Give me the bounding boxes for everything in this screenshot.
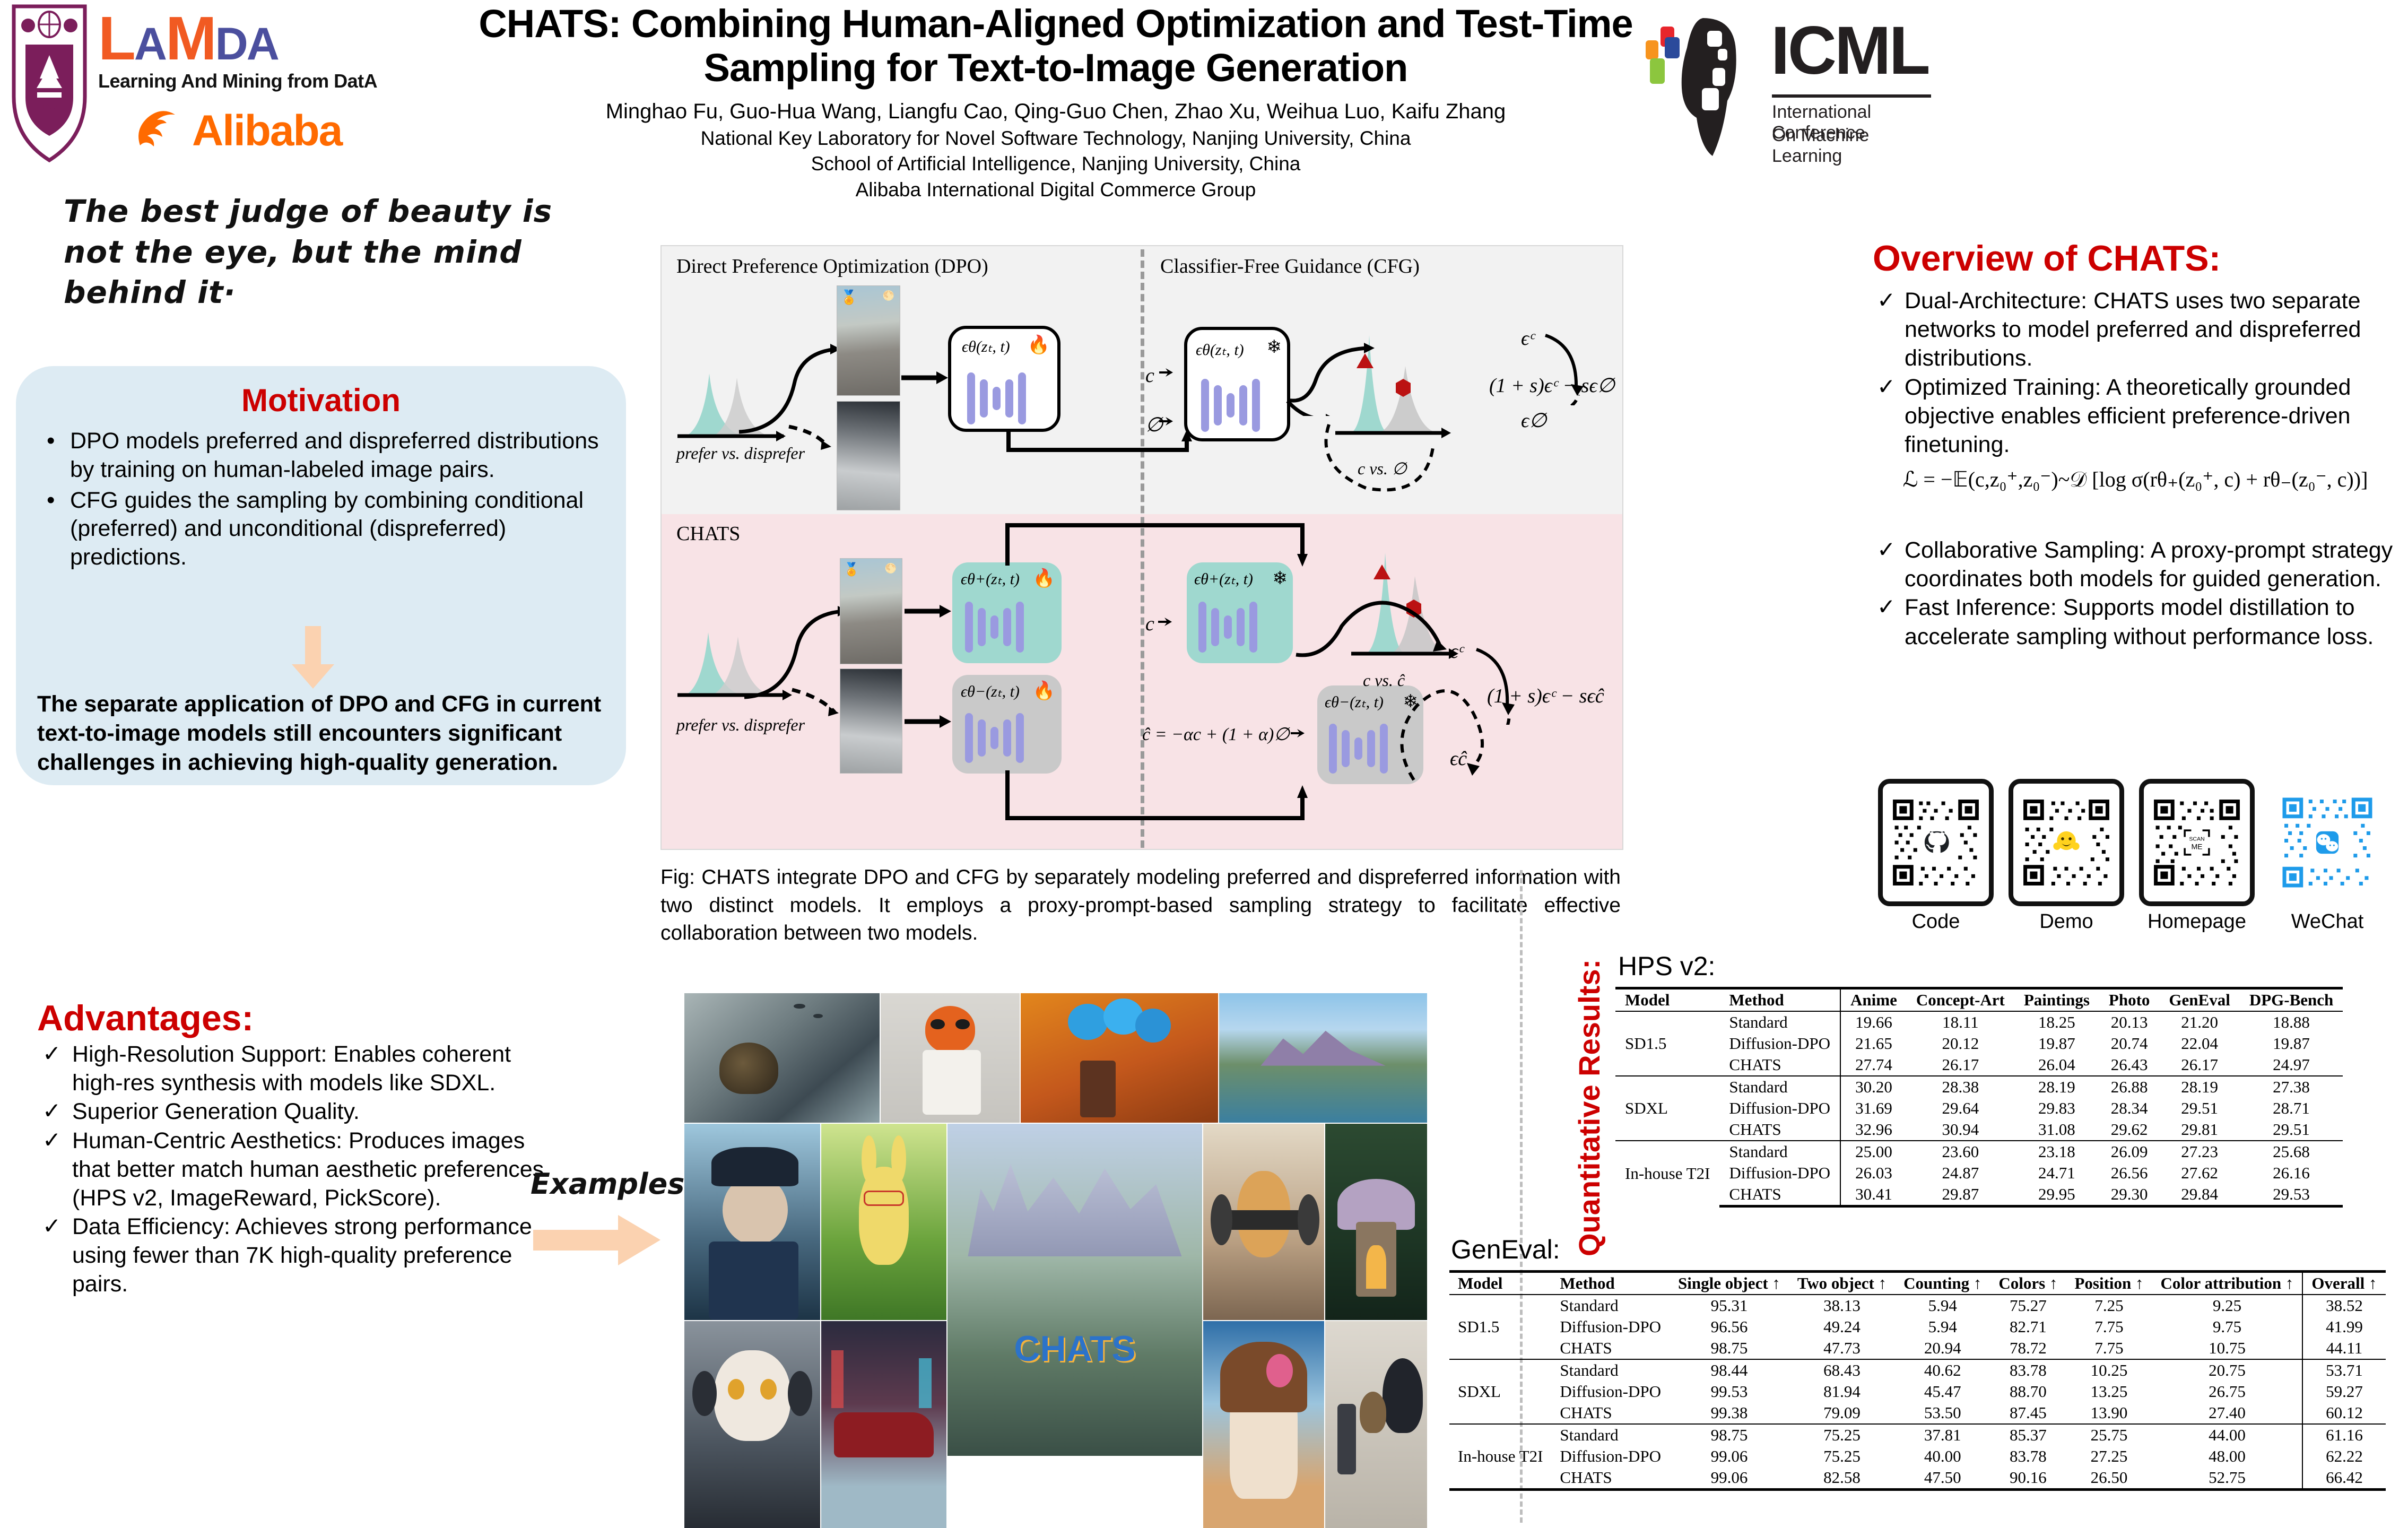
chats-neg-arrow — [905, 713, 953, 730]
value-cell: 20.74 — [2099, 1033, 2160, 1054]
table-row: Standard98.4468.4340.6283.7810.2520.7553… — [1449, 1359, 2386, 1381]
value-cell: 25.75 — [2066, 1424, 2152, 1446]
value-cell: 27.23 — [2159, 1141, 2239, 1162]
method-cell: Standard — [1551, 1359, 1670, 1381]
chats-pos-label: ϵθ+(zₜ, t) — [961, 570, 1020, 588]
value-cell: 26.03 — [1840, 1162, 1907, 1184]
list-item: Optimized Training: A theoretically grou… — [1873, 373, 2398, 459]
table-row: Diffusion-DPO21.6520.1219.8720.7422.0419… — [1615, 1033, 2343, 1054]
svg-text:ME: ME — [2191, 842, 2202, 850]
value-cell: 20.12 — [1907, 1033, 2014, 1054]
lamda-wordmark: LAMDA — [98, 7, 438, 69]
hps-table-body: SD1.5Standard19.6618.1118.2520.1321.2018… — [1615, 1011, 2343, 1206]
method-cell: Diffusion-DPO — [1719, 1098, 1840, 1119]
examples-label: Examples: — [531, 1167, 696, 1201]
method-cell: CHATS — [1551, 1402, 1670, 1424]
table-row: SDXLDiffusion-DPO99.5381.9445.4788.7013.… — [1449, 1381, 2386, 1402]
value-cell: 7.75 — [2066, 1338, 2152, 1359]
example-tile — [1219, 993, 1427, 1123]
chats-frozen-positive-box: ϵθ+(zₜ, t) ❄ — [1187, 562, 1293, 663]
chats-bottom-connector — [1005, 770, 1324, 823]
value-cell: 28.34 — [2099, 1098, 2160, 1119]
value-cell: 26.16 — [2240, 1162, 2343, 1184]
qr-frame-homepage[interactable]: SCAN ME — [2139, 779, 2255, 906]
example-tile — [1203, 1321, 1324, 1528]
value-cell: 88.70 — [1990, 1381, 2066, 1402]
value-cell: 10.25 — [2066, 1359, 2152, 1381]
value-cell: 20.13 — [2099, 1011, 2160, 1033]
value-cell: 28.38 — [1907, 1076, 2014, 1098]
chats-neg-label: ϵθ−(zₜ, t) — [961, 682, 1020, 701]
hps-v2-table: Model Method Anime Concept-Art Paintings… — [1615, 987, 2343, 1208]
example-tile — [684, 1124, 820, 1320]
loss-equation: ℒ = −𝔼(c,z₀⁺,z₀⁻)~𝒟 [log σ(rθ₊(z₀⁺, c) +… — [1867, 467, 2403, 492]
method-figure: Direct Preference Optimization (DPO) Cla… — [660, 245, 1623, 850]
right-arrow-icon — [533, 1215, 660, 1265]
example-tile — [1325, 1321, 1427, 1528]
model-cell-empty — [1449, 1402, 1551, 1424]
table-row: Diffusion-DPO31.6929.6429.8328.3429.5128… — [1615, 1098, 2343, 1119]
value-cell: 24.71 — [2014, 1162, 2099, 1184]
value-cell: 29.84 — [2159, 1184, 2239, 1206]
chats-positive-network-box: ϵθ+(zₜ, t) 🔥 — [952, 562, 1062, 663]
table-row: CHATS30.4129.8729.9529.3029.8429.53 — [1615, 1184, 2343, 1206]
cfg-net-bars — [1201, 379, 1260, 432]
qr-label: Code — [1878, 910, 1994, 933]
value-cell: 83.78 — [1990, 1446, 2066, 1467]
value-cell: 96.56 — [1670, 1316, 1789, 1338]
model-cell: SD1.5 — [1615, 1011, 1719, 1076]
table-row: SDXLStandard30.2028.3828.1926.8828.1927.… — [1615, 1076, 2343, 1098]
value-cell: 68.43 — [1789, 1359, 1895, 1381]
value-cell: 40.00 — [1895, 1446, 1990, 1467]
value-cell: 61.16 — [2302, 1424, 2385, 1446]
col-header: Two object ↑ — [1789, 1272, 1895, 1295]
example-tile-center: CHATS — [947, 1124, 1202, 1456]
example-tile — [1203, 1124, 1324, 1320]
value-cell: 78.72 — [1990, 1338, 2066, 1359]
qr-frame-demo[interactable] — [2009, 779, 2124, 906]
value-cell: 7.75 — [2066, 1316, 2152, 1338]
value-cell: 13.90 — [2066, 1402, 2152, 1424]
value-cell: 27.25 — [2066, 1446, 2152, 1467]
value-cell: 26.43 — [2099, 1054, 2160, 1076]
cfg-eps-null-label: ϵ∅ — [1521, 409, 1546, 432]
overview-title: Overview of CHATS: — [1873, 238, 2221, 279]
cfg-network-box: ϵθ(zₜ, t) ❄ — [1184, 327, 1290, 441]
list-item: Dual-Architecture: CHATS uses two separa… — [1873, 286, 2398, 373]
medal-icon: 🏅 — [844, 562, 859, 577]
value-cell: 21.65 — [1840, 1033, 1907, 1054]
value-cell: 5.94 — [1895, 1295, 1990, 1316]
method-cell: Standard — [1719, 1011, 1840, 1033]
list-item: Collaborative Sampling: A proxy-prompt s… — [1873, 536, 2398, 593]
snowflake-icon: ❄ — [1267, 336, 1282, 358]
advantages-list: High-Resolution Support: Enables coheren… — [37, 1040, 546, 1299]
value-cell: 98.75 — [1670, 1338, 1789, 1359]
lamda-tagline: Learning And Mining from DatA — [98, 70, 438, 92]
scan-me-icon: SCAN ME — [2185, 830, 2209, 855]
icml-head-icon — [1639, 15, 1761, 158]
quantitative-results-label: Quantitative Results: — [1541, 991, 1589, 1256]
value-cell: 44.11 — [2302, 1338, 2385, 1359]
affiliation-1: National Key Laboratory for Novel Softwa… — [456, 126, 1655, 152]
icml-divider — [1772, 94, 1931, 98]
cfg-network-label: ϵθ(zₜ, t) — [1196, 341, 1244, 359]
value-cell: 79.09 — [1789, 1402, 1895, 1424]
value-cell: 66.42 — [2302, 1467, 2385, 1490]
col-header: Model — [1615, 988, 1719, 1012]
col-header: DPG-Bench — [2240, 988, 2343, 1012]
icml-logo: ICML International Conference On Machine… — [1639, 5, 1936, 159]
value-cell: 99.53 — [1670, 1381, 1789, 1402]
value-cell: 29.53 — [2240, 1184, 2343, 1206]
qr-code-demo[interactable]: Demo — [2009, 779, 2124, 933]
table-row: SD1.5Standard19.6618.1118.2520.1321.2018… — [1615, 1011, 2343, 1033]
qr-frame-wechat[interactable] — [2270, 779, 2385, 906]
method-cell: Diffusion-DPO — [1719, 1033, 1840, 1054]
value-cell: 27.62 — [2159, 1162, 2239, 1184]
model-cell: In-house T2I — [1615, 1141, 1719, 1206]
geneval-table-body: Standard95.3138.135.9475.277.259.2538.52… — [1449, 1295, 2386, 1490]
value-cell: 48.00 — [2152, 1446, 2303, 1467]
moon-icon: 🌕 — [883, 290, 894, 301]
model-cell: SDXL — [1615, 1076, 1719, 1141]
value-cell: 23.60 — [1907, 1141, 2014, 1162]
col-header: Colors ↑ — [1990, 1272, 2066, 1295]
value-cell: 95.31 — [1670, 1295, 1789, 1316]
cfg-to-eps-c-arrow — [1284, 342, 1390, 416]
value-cell: 29.83 — [2014, 1098, 2099, 1119]
overview-list-bottom: Collaborative Sampling: A proxy-prompt s… — [1873, 536, 2398, 651]
value-cell: 25.00 — [1840, 1141, 1907, 1162]
qr-code-homepage[interactable]: SCAN ME Homepage — [2139, 779, 2255, 933]
example-tile — [684, 1321, 820, 1528]
list-item: Data Efficiency: Achieves strong perform… — [37, 1212, 546, 1299]
value-cell: 98.75 — [1670, 1424, 1789, 1446]
value-cell: 41.99 — [2302, 1316, 2385, 1338]
value-cell: 29.95 — [2014, 1184, 2099, 1206]
qr-code-row: Code — [1878, 779, 2403, 933]
value-cell: 29.87 — [1907, 1184, 2014, 1206]
col-header: Model — [1449, 1272, 1551, 1295]
chats-eps-chat-label: ϵĉ — [1450, 747, 1467, 770]
value-cell: 38.13 — [1789, 1295, 1895, 1316]
method-cell: Standard — [1551, 1424, 1670, 1446]
chats-cond-label: c — [1145, 612, 1154, 636]
qr-code-code[interactable]: Code — [1878, 779, 1994, 933]
col-header: Paintings — [2014, 988, 2099, 1012]
model-cell-empty — [1449, 1467, 1551, 1490]
table-row: CHATS32.9630.9431.0829.6229.8129.51 — [1615, 1119, 2343, 1141]
value-cell: 26.50 — [2066, 1467, 2152, 1490]
figure-dpo-title: Direct Preference Optimization (DPO) — [676, 255, 988, 278]
col-header: GenEval — [2159, 988, 2239, 1012]
value-cell: 13.25 — [2066, 1381, 2152, 1402]
figure-cfg-title: Classifier-Free Guidance (CFG) — [1160, 255, 1420, 278]
value-cell: 87.45 — [1990, 1402, 2066, 1424]
value-cell: 30.94 — [1907, 1119, 2014, 1141]
value-cell: 19.87 — [2014, 1033, 2099, 1054]
page-title: CHATS: Combining Human-Aligned Optimizat… — [456, 2, 1655, 90]
alibaba-logo: Alibaba — [133, 106, 419, 159]
method-cell: CHATS — [1551, 1338, 1670, 1359]
value-cell: 53.71 — [2302, 1359, 2385, 1381]
qr-pattern-wechat — [2281, 790, 2374, 895]
dpo-net-bars — [967, 372, 1026, 424]
moon-icon: 🌕 — [885, 563, 897, 574]
hps-table-title: HPS v2: — [1618, 951, 1715, 982]
example-image-grid: CHATS — [684, 993, 1427, 1524]
value-cell: 29.81 — [2159, 1119, 2239, 1141]
col-header: Counting ↑ — [1895, 1272, 1990, 1295]
value-cell: 45.47 — [1895, 1381, 1990, 1402]
quote-text: The best judge of beauty is not the eye,… — [64, 191, 599, 313]
chats-top-connector — [1005, 520, 1324, 568]
alibaba-wordmark: Alibaba — [192, 106, 342, 156]
col-header: Method — [1551, 1272, 1670, 1295]
col-header: Color attribution ↑ — [2152, 1272, 2303, 1295]
value-cell: 83.78 — [1990, 1359, 2066, 1381]
geneval-table-title: GenEval: — [1451, 1234, 1560, 1265]
value-cell: 18.88 — [2240, 1011, 2343, 1033]
cfg-output-formula: (1 + s)ϵᶜ − sϵ∅ — [1489, 374, 1615, 397]
cfg-cond-label: c — [1145, 364, 1154, 387]
table-row: In-house T2IStandard25.0023.6023.1826.09… — [1615, 1141, 2343, 1162]
value-cell: 32.96 — [1840, 1119, 1907, 1141]
qr-pattern-homepage: SCAN ME — [2150, 790, 2244, 895]
chats-pos-arrow — [905, 603, 953, 620]
list-item: Human-Centric Aesthetics: Produces image… — [37, 1126, 546, 1213]
value-cell: 99.06 — [1670, 1446, 1789, 1467]
value-cell: 20.94 — [1895, 1338, 1990, 1359]
col-header: Position ↑ — [2066, 1272, 2152, 1295]
value-cell: 90.16 — [1990, 1467, 2066, 1490]
value-cell: 75.25 — [1789, 1446, 1895, 1467]
table-row: CHATS99.0682.5847.5090.1626.5052.7566.42 — [1449, 1467, 2386, 1490]
lamda-letter-m: M — [166, 4, 215, 73]
advantages-title: Advantages: — [37, 997, 254, 1039]
value-cell: 26.56 — [2099, 1162, 2160, 1184]
poster-root: 1902 LAMDA Learning And Mining from DatA… — [0, 0, 2408, 1528]
dpo-branch-arrows — [736, 336, 853, 453]
proxy-arrow — [1291, 725, 1312, 743]
value-cell: 27.38 — [2240, 1076, 2343, 1098]
value-cell: 9.25 — [2152, 1295, 2303, 1316]
proxy-prompt-formula: ĉ = −αc + (1 + α)∅ — [1142, 724, 1290, 745]
icml-wordmark: ICML — [1771, 17, 1928, 85]
value-cell: 23.18 — [2014, 1141, 2099, 1162]
value-cell: 26.17 — [2159, 1054, 2239, 1076]
value-cell: 59.27 — [2302, 1381, 2385, 1402]
table-row: Diffusion-DPO26.0324.8724.7126.5627.6226… — [1615, 1162, 2343, 1184]
value-cell: 52.75 — [2152, 1467, 2303, 1490]
value-cell: 24.97 — [2240, 1054, 2343, 1076]
value-cell: 99.38 — [1670, 1402, 1789, 1424]
qr-label: WeChat — [2270, 910, 2385, 933]
lamda-letter-a2: A — [247, 19, 278, 70]
chats-neg-bars — [965, 713, 1024, 763]
lamda-letter-l: L — [98, 4, 134, 73]
value-cell: 37.81 — [1895, 1424, 1990, 1446]
value-cell: 29.62 — [2099, 1119, 2160, 1141]
value-cell: 38.52 — [2302, 1295, 2385, 1316]
cfg-compare-loop — [1318, 419, 1451, 504]
col-header: Concept-Art — [1907, 988, 2014, 1012]
value-cell: 18.25 — [2014, 1011, 2099, 1033]
example-center-caption: CHATS — [947, 1328, 1202, 1369]
motivation-title: Motivation — [37, 382, 605, 419]
method-cell: Diffusion-DPO — [1551, 1446, 1670, 1467]
table-row: CHATS27.7426.1726.0426.4326.1724.97 — [1615, 1054, 2343, 1076]
method-cell: CHATS — [1719, 1054, 1840, 1076]
medal-icon: 🏅 — [840, 289, 857, 306]
figure-chats-title: CHATS — [676, 522, 740, 545]
value-cell: 99.06 — [1670, 1467, 1789, 1490]
value-cell: 31.69 — [1840, 1098, 1907, 1119]
dpo-input-arrow — [901, 369, 950, 386]
model-cell-empty — [1449, 1338, 1551, 1359]
table-row: CHATS99.3879.0953.5087.4513.9027.4060.12 — [1449, 1402, 2386, 1424]
value-cell: 81.94 — [1789, 1381, 1895, 1402]
value-cell: 62.22 — [2302, 1446, 2385, 1467]
value-cell: 26.04 — [2014, 1054, 2099, 1076]
method-cell: Standard — [1551, 1295, 1670, 1316]
value-cell: 7.25 — [2066, 1295, 2152, 1316]
hugging-face-icon — [2053, 829, 2079, 855]
value-cell: 26.75 — [2152, 1381, 2303, 1402]
motivation-bullet-list: DPO models preferred and dispreferred di… — [37, 427, 605, 572]
col-header: Method — [1719, 988, 1840, 1012]
value-cell: 9.75 — [2152, 1316, 2303, 1338]
qr-frame-code[interactable] — [1878, 779, 1994, 906]
chats-pos-bars — [965, 602, 1024, 653]
col-header: Single object ↑ — [1670, 1272, 1789, 1295]
value-cell: 29.51 — [2159, 1098, 2239, 1119]
example-tile — [684, 993, 880, 1123]
value-cell: 28.71 — [2240, 1098, 2343, 1119]
alibaba-mark-icon — [133, 108, 183, 157]
lamda-letter-a: A — [134, 19, 166, 70]
down-arrow-icon — [289, 626, 337, 690]
value-cell: 28.19 — [2014, 1076, 2099, 1098]
svg-text:SCAN: SCAN — [2189, 836, 2204, 842]
col-header: Overall ↑ — [2302, 1272, 2385, 1295]
quant-label-line2: Results: — [1572, 959, 1606, 1076]
nanjing-university-logo: 1902 — [10, 3, 89, 162]
author-list: Minghao Fu, Guo-Hua Wang, Liangfu Cao, Q… — [456, 98, 1655, 126]
method-cell: CHATS — [1551, 1467, 1670, 1490]
title-block: CHATS: Combining Human-Aligned Optimizat… — [456, 2, 1655, 203]
value-cell: 29.51 — [2240, 1119, 2343, 1141]
table-row: Standard98.7575.2537.8185.3725.7544.0061… — [1449, 1424, 2386, 1446]
value-cell: 24.87 — [1907, 1162, 2014, 1184]
chats-preferred-image: 🏅 🌕 — [840, 558, 902, 664]
value-cell: 19.66 — [1840, 1011, 1907, 1033]
value-cell: 21.20 — [2159, 1011, 2239, 1033]
table-row: CHATS98.7547.7320.9478.727.7510.7544.11 — [1449, 1338, 2386, 1359]
col-header: Anime — [1840, 988, 1907, 1012]
example-tile — [821, 1321, 946, 1528]
github-icon — [1922, 829, 1950, 857]
value-cell: 29.30 — [2099, 1184, 2160, 1206]
value-cell: 22.04 — [2159, 1033, 2239, 1054]
nju-year-label: 1902 — [10, 103, 89, 112]
table-row: In-house T2IDiffusion-DPO99.0675.2540.00… — [1449, 1446, 2386, 1467]
dpo-network-box: ϵθ(zₜ, t) 🔥 — [948, 326, 1060, 432]
method-cell: Diffusion-DPO — [1551, 1316, 1670, 1338]
value-cell: 85.37 — [1990, 1424, 2066, 1446]
value-cell: 47.73 — [1789, 1338, 1895, 1359]
fire-icon: 🔥 — [1033, 568, 1055, 589]
method-cell: Diffusion-DPO — [1551, 1381, 1670, 1402]
fire-icon: 🔥 — [1033, 680, 1055, 701]
value-cell: 18.11 — [1907, 1011, 2014, 1033]
dpo-network-label: ϵθ(zₜ, t) — [962, 337, 1010, 356]
value-cell: 30.20 — [1840, 1076, 1907, 1098]
table-row: SD1.5Diffusion-DPO96.5649.245.9482.717.7… — [1449, 1316, 2386, 1338]
model-cell-empty — [1449, 1295, 1551, 1316]
wechat-icon — [2314, 829, 2340, 855]
qr-label: Homepage — [2139, 910, 2255, 933]
preferred-image: 🏅 🌕 — [837, 285, 900, 396]
chats-eps-c-label: ϵᶜ — [1450, 640, 1463, 663]
icml-subtitle-2: On Machine Learning — [1772, 125, 1936, 167]
value-cell: 25.68 — [2240, 1141, 2343, 1162]
value-cell: 26.17 — [1907, 1054, 2014, 1076]
value-cell: 20.75 — [2152, 1359, 2303, 1381]
value-cell: 75.25 — [1789, 1424, 1895, 1446]
value-cell: 31.08 — [2014, 1119, 2099, 1141]
qr-pattern-code — [1889, 790, 1983, 895]
value-cell: 29.64 — [1907, 1098, 2014, 1119]
fire-icon: 🔥 — [1028, 334, 1050, 355]
overview-list-top: Dual-Architecture: CHATS uses two separa… — [1873, 286, 2398, 459]
motivation-card: Motivation DPO models preferred and disp… — [16, 366, 626, 785]
cfg-eps-c-label: ϵᶜ — [1521, 327, 1534, 350]
method-cell: Standard — [1719, 1141, 1840, 1162]
list-item: Superior Generation Quality. — [37, 1097, 546, 1126]
qr-code-wechat[interactable]: WeChat — [2270, 779, 2385, 933]
quant-label-line1: Quantitative — [1572, 1084, 1606, 1256]
model-cell: SDXL — [1449, 1381, 1551, 1402]
model-cell-empty — [1449, 1359, 1551, 1381]
snowflake-icon: ❄ — [1273, 568, 1288, 589]
motivation-conclusion: The separate application of DPO and CFG … — [37, 690, 610, 777]
chats-frozen-neg-bars — [1329, 724, 1388, 774]
example-tile — [821, 1124, 946, 1320]
model-cell: SD1.5 — [1449, 1316, 1551, 1338]
method-cell: CHATS — [1719, 1119, 1840, 1141]
value-cell: 28.19 — [2159, 1076, 2239, 1098]
geneval-table: Model Method Single object ↑ Two object … — [1449, 1270, 2386, 1491]
value-cell: 26.88 — [2099, 1076, 2160, 1098]
value-cell: 27.74 — [1840, 1054, 1907, 1076]
value-cell: 10.75 — [2152, 1338, 2303, 1359]
example-tile — [881, 993, 1020, 1123]
model-cell: In-house T2I — [1449, 1446, 1551, 1467]
list-item: DPO models preferred and dispreferred di… — [37, 427, 605, 484]
value-cell: 5.94 — [1895, 1316, 1990, 1338]
method-cell: Diffusion-DPO — [1719, 1162, 1840, 1184]
lamda-letter-d: D — [215, 19, 247, 70]
method-cell: CHATS — [1719, 1184, 1840, 1206]
value-cell: 30.41 — [1840, 1184, 1907, 1206]
lamda-logo: LAMDA Learning And Mining from DatA — [98, 7, 438, 103]
qr-pattern-demo — [2020, 790, 2113, 895]
value-cell: 53.50 — [1895, 1402, 1990, 1424]
chats-output-formula: (1 + s)ϵᶜ − sϵĉ — [1487, 684, 1604, 708]
